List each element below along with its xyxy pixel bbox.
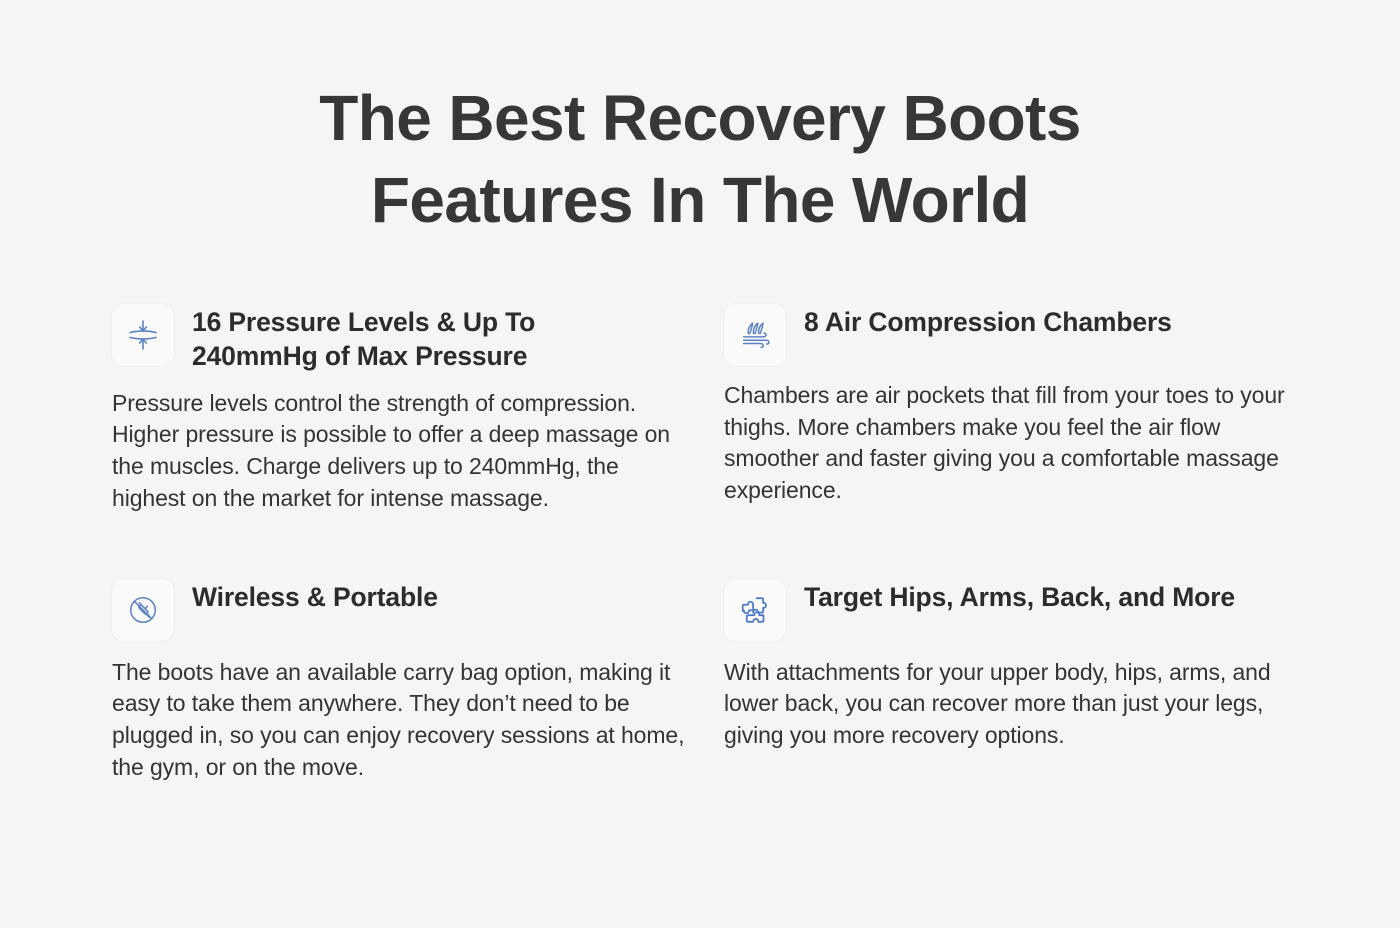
air-flow-icon bbox=[724, 304, 786, 366]
feature-description: Pressure levels control the strength of … bbox=[112, 388, 692, 515]
feature-title: Wireless & Portable bbox=[192, 579, 438, 615]
feature-header: Wireless & Portable bbox=[112, 579, 692, 641]
feature-title: Target Hips, Arms, Back, and More bbox=[804, 579, 1235, 615]
pressure-compression-icon bbox=[112, 304, 174, 366]
feature-title: 16 Pressure Levels & Up To 240mmHg of Ma… bbox=[192, 304, 662, 374]
feature-header: Target Hips, Arms, Back, and More bbox=[724, 579, 1304, 641]
feature-card-wireless-portable: Wireless & Portable The boots have an av… bbox=[112, 579, 692, 784]
feature-description: Chambers are air pockets that fill from … bbox=[724, 380, 1304, 507]
feature-card-target-areas: Target Hips, Arms, Back, and More With a… bbox=[724, 579, 1304, 784]
feature-description: With attachments for your upper body, hi… bbox=[724, 657, 1304, 752]
feature-description: The boots have an available carry bag op… bbox=[112, 657, 692, 784]
feature-header: 16 Pressure Levels & Up To 240mmHg of Ma… bbox=[112, 304, 692, 374]
page-title-line-2: Features In The World bbox=[0, 160, 1400, 242]
page-title: The Best Recovery Boots Features In The … bbox=[0, 78, 1400, 242]
features-grid: 16 Pressure Levels & Up To 240mmHg of Ma… bbox=[0, 304, 1400, 784]
page-title-line-1: The Best Recovery Boots bbox=[0, 78, 1400, 160]
feature-title: 8 Air Compression Chambers bbox=[804, 304, 1172, 340]
page-title-block: The Best Recovery Boots Features In The … bbox=[0, 0, 1400, 242]
feature-header: 8 Air Compression Chambers bbox=[724, 304, 1304, 366]
no-plug-wireless-icon bbox=[112, 579, 174, 641]
feature-list-page: The Best Recovery Boots Features In The … bbox=[0, 0, 1400, 928]
feature-card-pressure-levels: 16 Pressure Levels & Up To 240mmHg of Ma… bbox=[112, 304, 692, 515]
feature-card-air-chambers: 8 Air Compression Chambers Chambers are … bbox=[724, 304, 1304, 515]
puzzle-pieces-icon bbox=[724, 579, 786, 641]
